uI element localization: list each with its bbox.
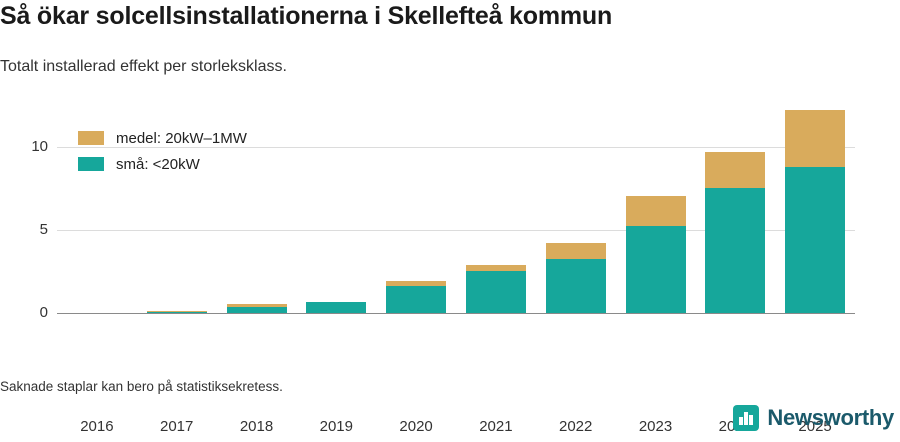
x-axis-tick-label: 2019	[291, 418, 381, 435]
legend-label-small: små: <20kW	[116, 156, 200, 173]
legend-item-small: små: <20kW	[78, 152, 247, 176]
x-axis-tick-label: 2021	[451, 418, 541, 435]
x-axis-tick-label: 2016	[52, 418, 142, 435]
legend-label-medium: medel: 20kW–1MW	[116, 130, 247, 147]
x-axis-tick-label: 2018	[212, 418, 302, 435]
bar-segment	[546, 243, 606, 259]
bar-column	[306, 100, 366, 313]
legend-item-medium: medel: 20kW–1MW	[78, 126, 247, 150]
bar-segment	[227, 304, 287, 307]
bar-segment	[466, 265, 526, 272]
x-axis-line	[57, 313, 855, 314]
bar-segment	[785, 110, 845, 167]
x-axis-tick-label: 2023	[611, 418, 701, 435]
bar-segment	[705, 152, 765, 188]
page-title: Så ökar solcellsinstallationerna i Skell…	[0, 2, 612, 31]
bar-segment	[626, 196, 686, 226]
bar-segment	[705, 188, 765, 313]
chart-footnote: Saknade staplar kan bero på statistiksek…	[0, 379, 283, 394]
bar-column	[546, 100, 606, 313]
bar-column	[785, 100, 845, 313]
legend-swatch-medium	[78, 131, 104, 145]
y-axis-tick-label: 0	[4, 304, 48, 321]
y-axis-tick-label: 5	[4, 221, 48, 238]
bar-segment	[546, 259, 606, 313]
bar-segment	[466, 271, 526, 313]
x-axis-tick-label: 2020	[371, 418, 461, 435]
x-axis-tick-label: 2017	[132, 418, 222, 435]
y-axis-tick-label: 10	[4, 138, 48, 155]
newsworthy-logo[interactable]: Newsworthy	[733, 405, 894, 431]
legend-swatch-small	[78, 157, 104, 171]
bar-segment	[386, 281, 446, 286]
bar-segment	[626, 226, 686, 313]
bar-column	[386, 100, 446, 313]
chart-page: Så ökar solcellsinstallationerna i Skell…	[0, 0, 900, 439]
bar-segment	[147, 311, 207, 312]
x-axis-tick-label: 2022	[531, 418, 621, 435]
bar-column	[466, 100, 526, 313]
bar-segment	[785, 167, 845, 313]
bar-column	[705, 100, 765, 313]
chart-subtitle: Totalt installerad effekt per storlekskl…	[0, 58, 287, 76]
bar-segment	[306, 302, 366, 313]
bar-column	[626, 100, 686, 313]
bar-chart-icon	[733, 405, 759, 431]
legend: medel: 20kW–1MW små: <20kW	[78, 126, 247, 178]
brand-name: Newsworthy	[767, 405, 894, 431]
bar-segment	[386, 286, 446, 313]
